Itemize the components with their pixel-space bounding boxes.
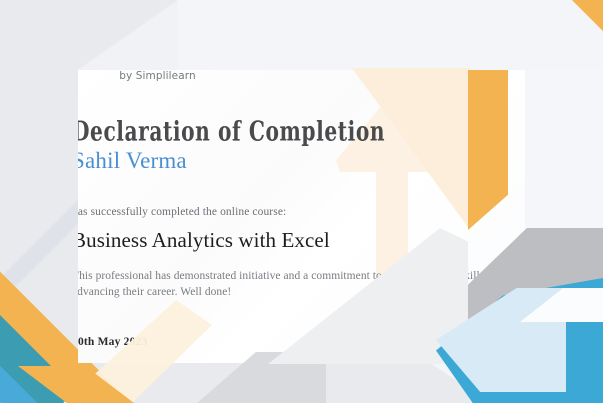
signature-block: Krishna Kumar CEO: [408, 306, 525, 363]
completion-lead-text: has successfully completed the online co…: [78, 206, 286, 218]
corner-ribbon-top-right-blue: [524, 0, 603, 31]
certificate: SkillUP by Simplilearn Declaration of Co…: [0, 0, 603, 403]
card-content: SkillUP by Simplilearn Declaration of Co…: [78, 70, 525, 363]
corner-chevron-bottom-right-white: [520, 288, 603, 322]
course-title: Business Analytics with Excel: [78, 228, 330, 253]
corner-ribbon-top-right-teal: [498, 0, 603, 7]
corner-accent-bottom-left-orange-stripe: [18, 366, 138, 403]
top-band-light-section: [170, 0, 603, 70]
certificate-blurb: This professional has demonstrated initi…: [78, 268, 504, 300]
issue-date: 20th May 2023: [78, 336, 147, 348]
left-band-diagonal-streak: [0, 198, 90, 298]
bottom-gray-band: [0, 363, 603, 403]
left-gray-band: [0, 0, 78, 403]
brand-logo: SkillUP by Simplilearn: [78, 70, 270, 82]
logo-tagline: by Simplilearn: [78, 70, 245, 82]
certificate-card: SkillUP by Simplilearn Declaration of Co…: [78, 70, 525, 363]
certificate-title: Declaration of Completion: [78, 115, 385, 147]
bottom-band-light-section: [462, 363, 603, 403]
signer-role: CEO: [408, 359, 525, 363]
bottom-band-diagonal-wedge: [430, 363, 490, 403]
handwritten-signature-icon: [408, 306, 525, 346]
recipient-name: Sahil Verma: [78, 148, 187, 174]
top-gray-band: [0, 0, 603, 70]
signer-name: Krishna Kumar: [408, 347, 525, 358]
corner-ribbon-top-right-orange: [470, 0, 603, 61]
top-band-diagonal-wedge: [78, 0, 178, 70]
